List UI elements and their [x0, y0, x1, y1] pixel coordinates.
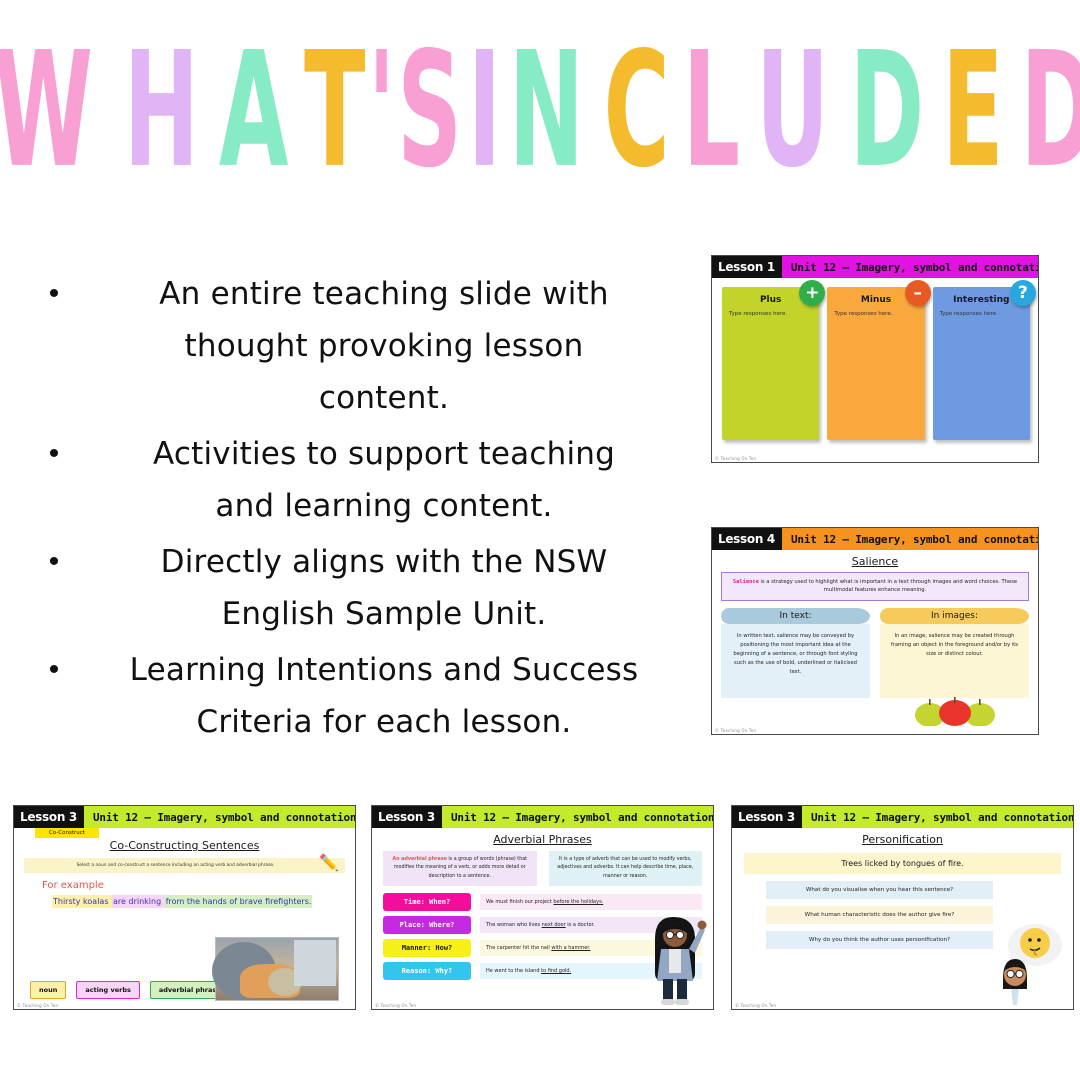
slide-body: Adverbial Phrases An adverbial phrase is… [372, 828, 713, 1009]
table-row: Time: When? We must finish our project b… [383, 893, 702, 911]
slide-header: Lesson 4 Unit 12 – Imagery, symbol and c… [712, 528, 1038, 550]
definition-term: Salience [733, 579, 759, 585]
title-letter: C [604, 38, 669, 184]
pmi-placeholder: Type responses here. [933, 305, 1030, 317]
bullet-line: Activities to support teaching [74, 428, 694, 480]
title-letter: L [683, 38, 739, 184]
tag-acting-verbs[interactable]: acting verbs [76, 981, 140, 999]
definition-row: An adverbial phrase is a group of words … [372, 846, 713, 886]
pmi-columns: + Plus Type responses here. – Minus Type… [712, 278, 1038, 462]
unit-title-bar: Unit 12 – Imagery, symbol and connotatio… [802, 806, 1074, 828]
watermark: © Teaching On Ten [375, 1003, 416, 1008]
slide-body: + Plus Type responses here. – Minus Type… [712, 278, 1038, 462]
column-body: In written text, salience may be conveye… [721, 624, 870, 698]
slide-header: Lesson 1 Unit 12 – Imagery, symbol and c… [712, 256, 1038, 278]
slide-thumbnail-lesson1[interactable]: Lesson 1 Unit 12 – Imagery, symbol and c… [711, 255, 1039, 463]
bitmoji-thinking-avatar [973, 919, 1063, 1007]
sentence-underlined: to find gold. [541, 968, 571, 974]
list-item: •Learning Intentions and SuccessCriteria… [34, 644, 694, 748]
title-letter: H [123, 38, 197, 184]
bullet-marker-icon: • [34, 428, 74, 480]
unit-title-bar: Unit 12 – Imagery, symbol and connotatio… [442, 806, 714, 828]
tag-noun[interactable]: noun [30, 981, 66, 999]
unit-title-bar: Unit 12 – Imagery, symbol and connotatio… [84, 806, 356, 828]
title-letter: U [756, 38, 828, 184]
column-heading: In text: [721, 608, 870, 624]
slide-body: Co-Construct Co-Constructing Sentences S… [14, 828, 355, 1009]
definition-body: It is a type of adverb that can be used … [557, 857, 693, 879]
bullet-text: Learning Intentions and SuccessCriteria … [74, 644, 694, 748]
slide-body: Salience Salience is a strategy used to … [712, 550, 1038, 734]
example-quote: Trees licked by tongues of fire. [744, 853, 1061, 874]
slide-heading: Adverbial Phrases [372, 828, 713, 846]
bullet-line: Learning Intentions and Success [74, 644, 694, 696]
salience-definition: Salience is a strategy used to highlight… [721, 572, 1029, 601]
bitmoji-teacher-avatar [643, 911, 707, 1007]
sentence-plain: We must finish our project [486, 899, 553, 905]
slide-header: Lesson 3 Unit 12 – Imagery, symbol and c… [732, 806, 1073, 828]
co-construct-tab: Co-Construct [35, 828, 99, 838]
definition-adverbial: An adverbial phrase is a group of words … [383, 851, 537, 886]
bullet-line: English Sample Unit. [74, 588, 694, 640]
instruction-text: Select a noun and co-construct a sentenc… [76, 863, 274, 868]
bullet-marker-icon: • [34, 536, 74, 588]
title-letter: N [509, 38, 583, 184]
apples-image [880, 696, 1029, 731]
question-3: Why do you think the author uses personi… [766, 931, 993, 949]
bullet-text: Directly aligns with the NSWEnglish Samp… [74, 536, 694, 640]
features-bullet-list: •An entire teaching slide withthought pr… [34, 268, 694, 752]
slide-heading: Personification [732, 828, 1073, 846]
pmi-column-plus: + Plus Type responses here. [722, 287, 819, 440]
sentence-plain: The woman who lives [486, 922, 542, 928]
bullet-line: and learning content. [74, 480, 694, 532]
title-letter: S [398, 38, 462, 184]
question-1: What do you visualise when you hear this… [766, 881, 993, 899]
unit-title-bar: Unit 12 – Imagery, symbol and connotatio… [782, 528, 1039, 550]
slide-heading: Salience [712, 550, 1038, 568]
salience-column-images: In images: In an image, salience may be … [880, 608, 1029, 731]
title-letter: T [304, 38, 364, 184]
slide-body: Personification Trees licked by tongues … [732, 828, 1073, 1009]
example-label: For example [14, 873, 355, 891]
pmi-placeholder: Type responses here. [827, 305, 924, 317]
sentence-part-adverbial: from the hands of brave firefighters. [165, 895, 313, 908]
pmi-column-minus: – Minus Type responses here. [827, 287, 924, 440]
lesson-badge: Lesson 4 [712, 528, 782, 550]
watermark: © Teaching On Ten [715, 728, 756, 733]
pmi-column-interesting: ? Interesting Type responses here. [933, 287, 1030, 440]
definition-lead: An adverbial phrase [392, 857, 446, 862]
question-icon: ? [1010, 280, 1036, 306]
title-letter: D [850, 38, 924, 184]
pencil-icon: ✏️ [319, 853, 339, 872]
slide-thumbnail-coconstruct[interactable]: Lesson 3 Unit 12 – Imagery, symbol and c… [13, 805, 356, 1010]
row-label-manner: Manner: How? [383, 939, 471, 957]
bullet-line: An entire teaching slide with [74, 268, 694, 320]
slide-header: Lesson 3 Unit 12 – Imagery, symbol and c… [14, 806, 355, 828]
salience-column-text: In text: In written text, salience may b… [721, 608, 870, 731]
page-title: WHAT'SINCLUDED [0, 24, 1080, 184]
lesson-badge: Lesson 3 [14, 806, 84, 828]
list-item: •Directly aligns with the NSWEnglish Sam… [34, 536, 694, 640]
plus-icon: + [799, 280, 825, 306]
salience-columns: In text: In written text, salience may b… [712, 601, 1038, 731]
title-letter: ' [367, 38, 393, 184]
column-body: In an image, salience may be created thr… [880, 624, 1029, 698]
watermark: © Teaching On Ten [715, 456, 756, 461]
title-letter: E [942, 38, 1002, 184]
row-sentence: We must finish our project before the ho… [480, 894, 702, 910]
list-item: •Activities to support teachingand learn… [34, 428, 694, 532]
question-2: What human characteristic does the autho… [766, 906, 993, 924]
minus-icon: – [905, 280, 931, 306]
slide-thumbnail-lesson4[interactable]: Lesson 4 Unit 12 – Imagery, symbol and c… [711, 527, 1039, 735]
bullet-marker-icon: • [34, 268, 74, 320]
instruction-banner: Select a noun and co-construct a sentenc… [24, 858, 345, 873]
row-label-reason: Reason: Why? [383, 962, 471, 980]
sentence-tail: is a doctor. [566, 922, 595, 928]
slide-header: Lesson 3 Unit 12 – Imagery, symbol and c… [372, 806, 713, 828]
slide-thumbnail-personification[interactable]: Lesson 3 Unit 12 – Imagery, symbol and c… [731, 805, 1074, 1010]
lesson-badge: Lesson 3 [372, 806, 442, 828]
sentence-underlined: next door [542, 922, 566, 928]
row-label-place: Place: Where? [383, 916, 471, 934]
bullet-line: Directly aligns with the NSW [74, 536, 694, 588]
list-item: •An entire teaching slide withthought pr… [34, 268, 694, 424]
bullet-line: thought provoking lesson [74, 320, 694, 372]
lesson-badge: Lesson 3 [732, 806, 802, 828]
lesson-badge: Lesson 1 [712, 256, 782, 278]
sentence-plain: The carpenter hit the nail [486, 945, 551, 951]
pmi-placeholder: Type responses here. [722, 305, 819, 317]
title-letter: I [467, 38, 499, 184]
column-heading: In images: [880, 608, 1029, 624]
slide-thumbnail-adverbial[interactable]: Lesson 3 Unit 12 – Imagery, symbol and c… [371, 805, 714, 1010]
sentence-part-verb: are drinking [112, 895, 165, 908]
title-letter: W [0, 38, 92, 184]
unit-title-bar: Unit 12 – Imagery, symbol and connotatio… [782, 256, 1039, 278]
bullet-line: content. [74, 372, 694, 424]
watermark: © Teaching On Ten [735, 1003, 776, 1008]
word-class-tags: noun acting verbs adverbial phrase [30, 981, 230, 999]
bullet-text: An entire teaching slide withthought pro… [74, 268, 694, 424]
sentence-plain: He went to the island [486, 968, 541, 974]
sentence-part-noun: Thirsty koalas [52, 895, 112, 908]
definition-body: is a strategy used to highlight what is … [759, 579, 1017, 593]
bullet-marker-icon: • [34, 644, 74, 696]
bullet-line: Criteria for each lesson. [74, 696, 694, 748]
watermark: © Teaching On Ten [17, 1003, 58, 1008]
row-label-time: Time: When? [383, 893, 471, 911]
definition-adverb-type: It is a type of adverb that can be used … [549, 851, 703, 886]
title-letter: A [219, 38, 287, 184]
bullet-text: Activities to support teachingand learni… [74, 428, 694, 532]
sentence-underlined: with a hammer. [551, 945, 590, 951]
title-letter: D [1021, 38, 1080, 184]
example-sentence: Thirsty koalas are drinking from the han… [14, 891, 355, 906]
firefighter-koala-photo [215, 937, 339, 1001]
sentence-underlined: before the holidays. [553, 899, 603, 905]
